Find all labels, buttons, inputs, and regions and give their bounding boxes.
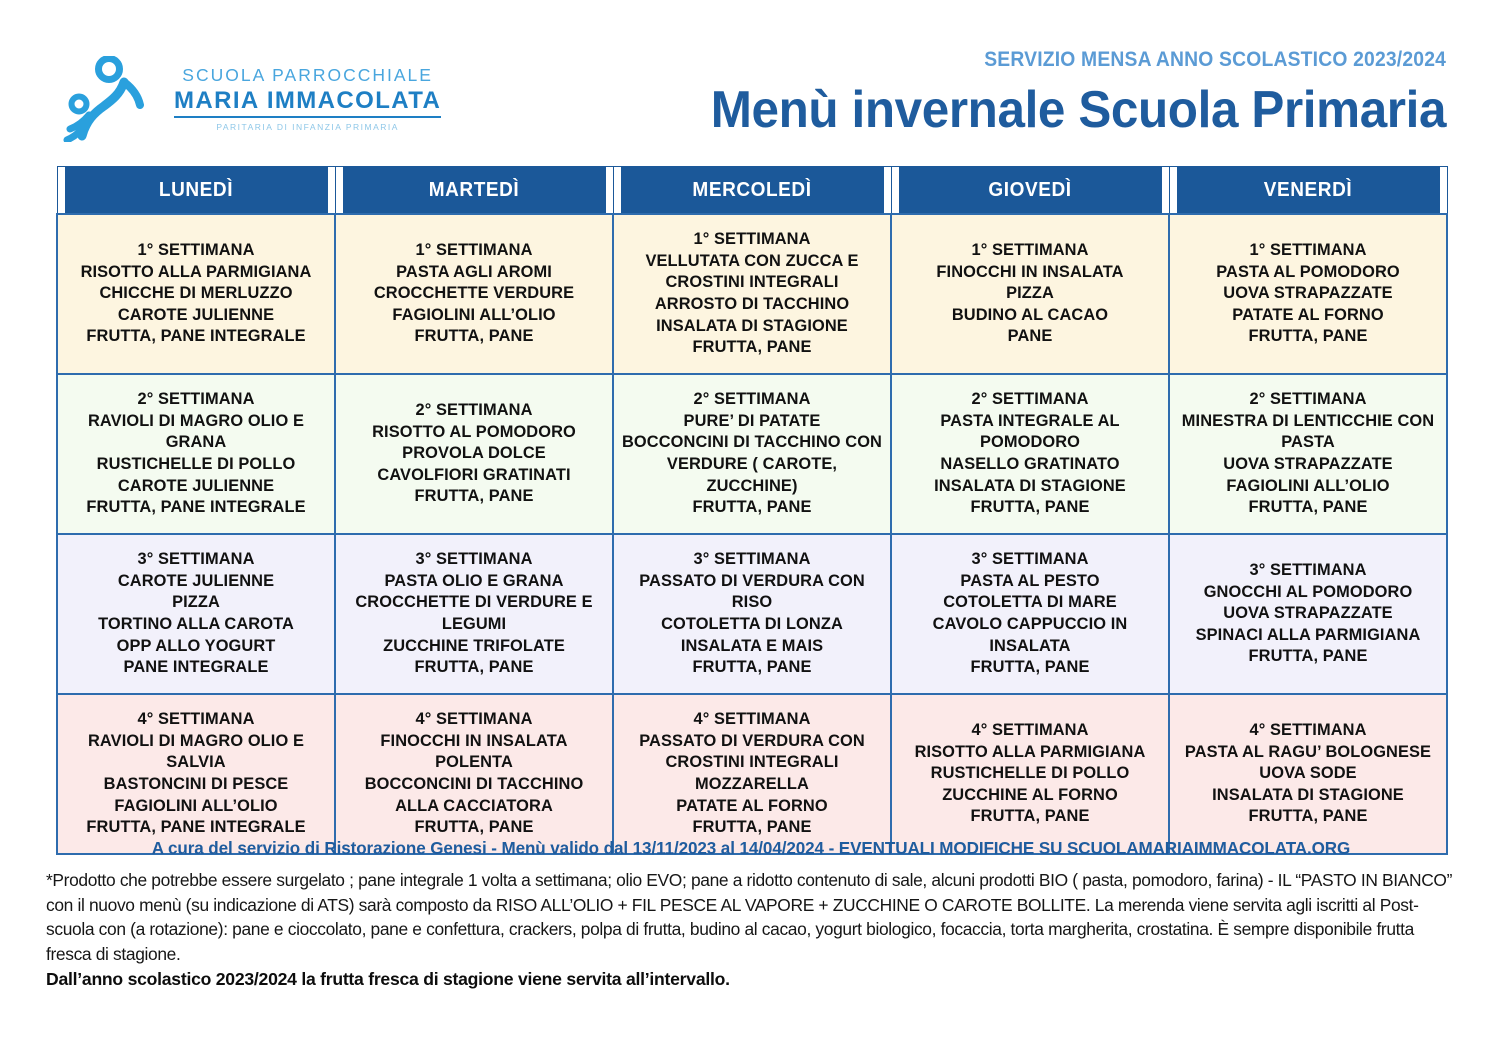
menu-line: POLENTA (342, 752, 606, 774)
menu-line: CAROTE JULIENNE (64, 305, 328, 327)
menu-line: ARROSTO DI TACCHINO (620, 294, 884, 316)
logo-line-scuola-parrocchiale: SCUOLA PARROCCHIALE (182, 67, 433, 85)
logo-line-paritaria: PARITARIA DI INFANZIA PRIMARIA (216, 123, 399, 132)
menu-line: CAVOLO CAPPUCCIO IN INSALATA (898, 614, 1162, 657)
menu-line: 2° SETTIMANA (620, 389, 884, 411)
menu-line: PASTA OLIO E GRANA (342, 571, 606, 593)
menu-line: 3° SETTIMANA (1176, 560, 1440, 582)
menu-cell-w2-venerdi: 2° SETTIMANAMINESTRA DI LENTICCHIE CON P… (1169, 374, 1447, 534)
table-row-week-4: 4° SETTIMANARAVIOLI DI MAGRO OLIO E SALV… (57, 694, 1447, 854)
menu-line: PASTA AL PESTO (898, 571, 1162, 593)
menu-cell-w4-martedi: 4° SETTIMANAFINOCCHI IN INSALATAPOLENTAB… (335, 694, 613, 854)
menu-line: CAROTE JULIENNE (64, 476, 328, 498)
table-header-row: LUNEDÌ MARTEDÌ MERCOLEDÌ GIOVEDÌ VENERDÌ (57, 167, 1447, 215)
menu-line: PASTA AGLI AROMI (342, 262, 606, 284)
menu-line: UOVA STRAPAZZATE (1176, 283, 1440, 305)
menu-line: CAROTE JULIENNE (64, 571, 328, 593)
weekly-menu-table: LUNEDÌ MARTEDÌ MERCOLEDÌ GIOVEDÌ VENERDÌ… (56, 166, 1448, 855)
menu-line: 4° SETTIMANA (342, 709, 606, 731)
header-title-block: SERVIZIO MENSA ANNO SCOLASTICO 2023/2024… (672, 48, 1446, 140)
menu-line: FAGIOLINI ALL’OLIO (1176, 476, 1440, 498)
menu-line: INSALATA DI STAGIONE (620, 316, 884, 338)
table-row-week-2: 2° SETTIMANARAVIOLI DI MAGRO OLIO E GRAN… (57, 374, 1447, 534)
menu-line: FRUTTA, PANE (898, 497, 1162, 519)
footer-headline: A cura del servizio di Ristorazione Gene… (67, 838, 1435, 859)
menu-line: RUSTICHELLE DI POLLO (898, 763, 1162, 785)
menu-line: BASTONCINI DI PESCE (64, 774, 328, 796)
menu-line: 2° SETTIMANA (1176, 389, 1440, 411)
menu-line: FRUTTA, PANE INTEGRALE (64, 326, 328, 348)
menu-cell-w2-martedi: 2° SETTIMANARISOTTO AL POMODOROPROVOLA D… (335, 374, 613, 534)
menu-line: MOZZARELLA (620, 774, 884, 796)
school-logo: SCUOLA PARROCCHIALE MARIA IMMACOLATA PAR… (62, 56, 441, 142)
menu-line: FRUTTA, PANE (342, 486, 606, 508)
menu-line: PASTA AL POMODORO (1176, 262, 1440, 284)
footer-bold-note: Dall’anno scolastico 2023/2024 la frutta… (46, 969, 1456, 990)
menu-line: FINOCCHI IN INSALATA (342, 731, 606, 753)
header-eyebrow: SERVIZIO MENSA ANNO SCOLASTICO 2023/2024 (734, 48, 1446, 72)
menu-cell-w4-mercoledi: 4° SETTIMANAPASSATO DI VERDURA CON CROST… (613, 694, 891, 854)
menu-cell-w4-lunedi: 4° SETTIMANARAVIOLI DI MAGRO OLIO E SALV… (57, 694, 335, 854)
menu-line: UOVA STRAPAZZATE (1176, 603, 1440, 625)
menu-line: FRUTTA, PANE (1176, 497, 1440, 519)
menu-line: INSALATA DI STAGIONE (898, 476, 1162, 498)
menu-line: 2° SETTIMANA (342, 400, 606, 422)
menu-line: PASTA INTEGRALE AL POMODORO (898, 411, 1162, 454)
menu-cell-w4-venerdi: 4° SETTIMANAPASTA AL RAGU’ BOLOGNESEUOVA… (1169, 694, 1447, 854)
running-figures-logo-icon (62, 56, 160, 142)
menu-line: FRUTTA, PANE (620, 337, 884, 359)
menu-line: FRUTTA, PANE INTEGRALE (64, 817, 328, 839)
menu-line: 3° SETTIMANA (342, 549, 606, 571)
menu-cell-w3-lunedi: 3° SETTIMANACAROTE JULIENNEPIZZATORTINO … (57, 534, 335, 694)
menu-cell-w4-giovedi: 4° SETTIMANARISOTTO ALLA PARMIGIANARUSTI… (891, 694, 1169, 854)
menu-line: 3° SETTIMANA (620, 549, 884, 571)
menu-line: 4° SETTIMANA (64, 709, 328, 731)
page-title: Menù invernale Scuola Primaria (711, 80, 1446, 140)
menu-line: RISOTTO ALLA PARMIGIANA (64, 262, 328, 284)
menu-line: 1° SETTIMANA (620, 229, 884, 251)
menu-line: FRUTTA, PANE (1176, 806, 1440, 828)
menu-line: FRUTTA, PANE (620, 817, 884, 839)
menu-line: TORTINO ALLA CAROTA (64, 614, 328, 636)
menu-cell-w3-venerdi: 3° SETTIMANAGNOCCHI AL POMODOROUOVA STRA… (1169, 534, 1447, 694)
menu-line: FAGIOLINI ALL’OLIO (342, 305, 606, 327)
menu-cell-w1-giovedi: 1° SETTIMANAFINOCCHI IN INSALATAPIZZABUD… (891, 214, 1169, 374)
menu-cell-w1-mercoledi: 1° SETTIMANAVELLUTATA CON ZUCCA E CROSTI… (613, 214, 891, 374)
menu-cell-w2-giovedi: 2° SETTIMANAPASTA INTEGRALE AL POMODORON… (891, 374, 1169, 534)
menu-cell-w3-martedi: 3° SETTIMANAPASTA OLIO E GRANACROCCHETTE… (335, 534, 613, 694)
menu-line: PASTA AL RAGU’ BOLOGNESE (1176, 742, 1440, 764)
menu-line: RAVIOLI DI MAGRO OLIO E GRANA (64, 411, 328, 454)
menu-line: 2° SETTIMANA (898, 389, 1162, 411)
menu-line: FRUTTA, PANE (620, 657, 884, 679)
menu-line: FRUTTA, PANE (342, 817, 606, 839)
menu-line: COTOLETTA DI LONZA (620, 614, 884, 636)
menu-cell-w1-lunedi: 1° SETTIMANARISOTTO ALLA PARMIGIANACHICC… (57, 214, 335, 374)
column-header-venerdi: VENERDÌ (1176, 167, 1440, 215)
menu-line: ZUCCHINE AL FORNO (898, 785, 1162, 807)
menu-line: SPINACI ALLA PARMIGIANA (1176, 625, 1440, 647)
column-header-martedi: MARTEDÌ (342, 167, 606, 215)
menu-line: COTOLETTA DI MARE (898, 592, 1162, 614)
column-header-giovedi: GIOVEDÌ (898, 167, 1162, 215)
menu-line: 4° SETTIMANA (1176, 720, 1440, 742)
menu-cell-w2-lunedi: 2° SETTIMANARAVIOLI DI MAGRO OLIO E GRAN… (57, 374, 335, 534)
menu-cell-w1-venerdi: 1° SETTIMANAPASTA AL POMODOROUOVA STRAPA… (1169, 214, 1447, 374)
menu-line: CROCCHETTE VERDURE (342, 283, 606, 305)
page-header: SCUOLA PARROCCHIALE MARIA IMMACOLATA PAR… (0, 0, 1498, 152)
menu-line: CROCCHETTE DI VERDURE E LEGUMI (342, 592, 606, 635)
menu-line: CAVOLFIORI GRATINATI (342, 465, 606, 487)
menu-line: 1° SETTIMANA (64, 240, 328, 262)
menu-line: RAVIOLI DI MAGRO OLIO E SALVIA (64, 731, 328, 774)
menu-line: BOCCONCINI DI TACCHINO CON VERDURE ( CAR… (620, 432, 884, 497)
menu-line: FAGIOLINI ALL’OLIO (64, 796, 328, 818)
menu-line: 1° SETTIMANA (1176, 240, 1440, 262)
menu-line: FRUTTA, PANE INTEGRALE (64, 497, 328, 519)
logo-line-maria-immacolata: MARIA IMMACOLATA (174, 89, 441, 118)
menu-line: 2° SETTIMANA (64, 389, 328, 411)
menu-line: PROVOLA DOLCE (342, 443, 606, 465)
menu-line: PASSATO DI VERDURA CON CROSTINI INTEGRAL… (620, 731, 884, 774)
menu-line: 1° SETTIMANA (898, 240, 1162, 262)
footer-allergen-note: *Prodotto che potrebbe essere surgelato … (46, 868, 1456, 966)
menu-line: 3° SETTIMANA (64, 549, 328, 571)
menu-line: PANE (898, 326, 1162, 348)
menu-line: BUDINO AL CACAO (898, 305, 1162, 327)
menu-line: PATATE AL FORNO (1176, 305, 1440, 327)
menu-line: GNOCCHI AL POMODORO (1176, 582, 1440, 604)
menu-line: UOVA SODE (1176, 763, 1440, 785)
menu-line: RISOTTO ALLA PARMIGIANA (898, 742, 1162, 764)
menu-line: CHICCHE DI MERLUZZO (64, 283, 328, 305)
menu-line: FRUTTA, PANE (620, 497, 884, 519)
column-header-mercoledi: MERCOLEDÌ (620, 167, 884, 215)
menu-line: NASELLO GRATINATO (898, 454, 1162, 476)
menu-line: BOCCONCINI DI TACCHINO ALLA CACCIATORA (342, 774, 606, 817)
menu-line: 1° SETTIMANA (342, 240, 606, 262)
menu-cell-w3-giovedi: 3° SETTIMANAPASTA AL PESTOCOTOLETTA DI M… (891, 534, 1169, 694)
menu-line: OPP ALLO YOGURT (64, 636, 328, 658)
table-row-week-3: 3° SETTIMANACAROTE JULIENNEPIZZATORTINO … (57, 534, 1447, 694)
menu-line: 4° SETTIMANA (620, 709, 884, 731)
menu-cell-w3-mercoledi: 3° SETTIMANAPASSATO DI VERDURA CON RISOC… (613, 534, 891, 694)
menu-line: PASSATO DI VERDURA CON RISO (620, 571, 884, 614)
menu-line: FRUTTA, PANE (1176, 646, 1440, 668)
menu-line: INSALATA E MAIS (620, 636, 884, 658)
menu-line: VELLUTATA CON ZUCCA E CROSTINI INTEGRALI (620, 251, 884, 294)
menu-line: MINESTRA DI LENTICCHIE CON PASTA (1176, 411, 1440, 454)
menu-line: FINOCCHI IN INSALATA (898, 262, 1162, 284)
menu-line: PURE’ DI PATATE (620, 411, 884, 433)
menu-line: PATATE AL FORNO (620, 796, 884, 818)
menu-line: RUSTICHELLE DI POLLO (64, 454, 328, 476)
menu-line: FRUTTA, PANE (1176, 326, 1440, 348)
menu-line: INSALATA DI STAGIONE (1176, 785, 1440, 807)
column-header-lunedi: LUNEDÌ (64, 167, 328, 215)
menu-line: FRUTTA, PANE (342, 657, 606, 679)
menu-line: FRUTTA, PANE (342, 326, 606, 348)
page-footer: A cura del servizio di Ristorazione Gene… (46, 838, 1456, 990)
menu-line: ZUCCHINE TRIFOLATE (342, 636, 606, 658)
menu-cell-w2-mercoledi: 2° SETTIMANAPURE’ DI PATATEBOCCONCINI DI… (613, 374, 891, 534)
menu-line: PIZZA (898, 283, 1162, 305)
menu-line: PANE INTEGRALE (64, 657, 328, 679)
table-row-week-1: 1° SETTIMANARISOTTO ALLA PARMIGIANACHICC… (57, 214, 1447, 374)
menu-line: FRUTTA, PANE (898, 657, 1162, 679)
menu-line: 3° SETTIMANA (898, 549, 1162, 571)
menu-cell-w1-martedi: 1° SETTIMANAPASTA AGLI AROMICROCCHETTE V… (335, 214, 613, 374)
menu-line: FRUTTA, PANE (898, 806, 1162, 828)
menu-line: PIZZA (64, 592, 328, 614)
menu-line: 4° SETTIMANA (898, 720, 1162, 742)
menu-line: RISOTTO AL POMODORO (342, 422, 606, 444)
menu-line: UOVA STRAPAZZATE (1176, 454, 1440, 476)
